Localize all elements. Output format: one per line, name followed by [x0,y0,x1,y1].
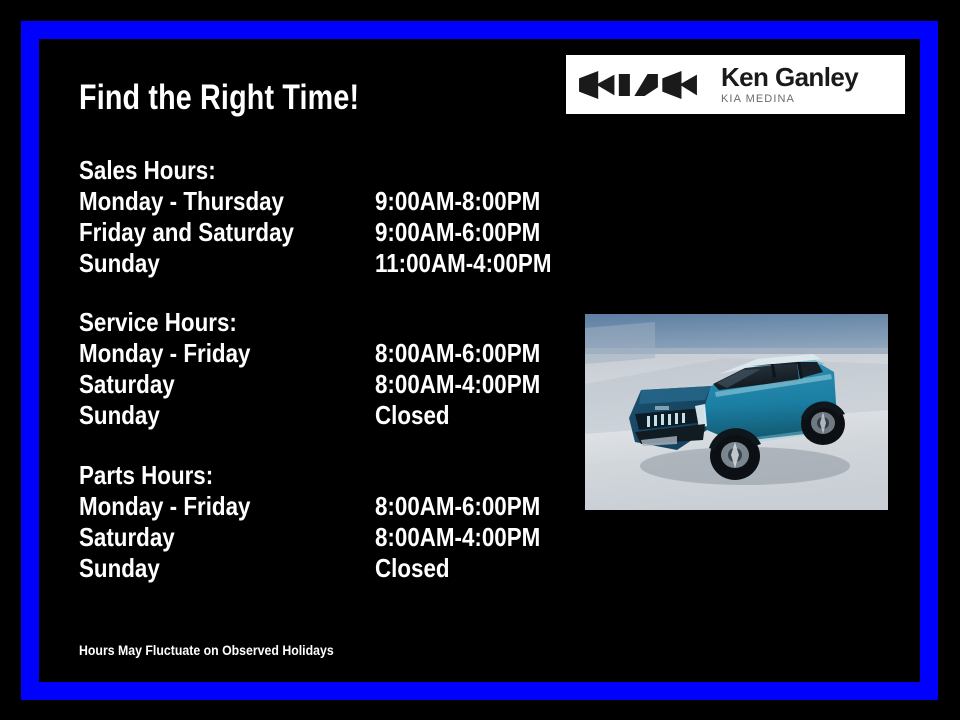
day-label: Saturday [79,369,334,400]
hours-row: Sunday Closed [79,553,567,584]
day-label: Monday - Friday [79,491,334,522]
hours-row: Sunday Closed [79,400,567,431]
dealer-name: Ken Ganley [721,64,858,90]
dealer-logo-panel: Ken Ganley KIA MEDINA [566,55,905,114]
hours-row: Monday - Thursday 9:00AM-8:00PM [79,186,580,217]
time-value: 8:00AM-6:00PM [375,491,540,522]
dealer-logo-text: Ken Ganley KIA MEDINA [721,64,858,105]
hours-row: Friday and Saturday 9:00AM-6:00PM [79,217,580,248]
kia-logo-icon [579,71,697,99]
hours-row: Saturday 8:00AM-4:00PM [79,369,567,400]
day-label: Sunday [79,400,334,431]
day-label: Saturday [79,522,334,553]
dealer-subtitle: KIA MEDINA [721,94,858,105]
holiday-disclaimer: Hours May Fluctuate on Observed Holidays [79,642,334,658]
hours-row: Monday - Friday 8:00AM-6:00PM [79,338,567,369]
time-value: 11:00AM-4:00PM [375,248,551,279]
time-value: 8:00AM-6:00PM [375,338,540,369]
day-label: Friday and Saturday [79,217,334,248]
time-value: Closed [375,553,450,584]
hours-row: Monday - Friday 8:00AM-6:00PM [79,491,567,522]
kia-ev9-vehicle-photo [585,314,888,510]
parts-hours-heading: Parts Hours: [79,460,499,491]
service-hours-block: Service Hours: Monday - Friday 8:00AM-6:… [79,307,567,431]
time-value: 9:00AM-8:00PM [375,186,540,217]
hours-row: Sunday 11:00AM-4:00PM [79,248,580,279]
sales-hours-heading: Sales Hours: [79,155,510,186]
time-value: 8:00AM-4:00PM [375,522,540,553]
hours-row: Saturday 8:00AM-4:00PM [79,522,567,553]
page-title: Find the Right Time! [79,78,359,118]
service-hours-heading: Service Hours: [79,307,499,338]
day-label: Sunday [79,553,334,584]
time-value: 8:00AM-4:00PM [375,369,540,400]
sales-hours-block: Sales Hours: Monday - Thursday 9:00AM-8:… [79,155,580,279]
slide-canvas: Find the Right Time! Ken Ganley KIA MEDI… [0,0,960,720]
time-value: 9:00AM-6:00PM [375,217,540,248]
time-value: Closed [375,400,450,431]
day-label: Monday - Friday [79,338,334,369]
day-label: Monday - Thursday [79,186,334,217]
parts-hours-block: Parts Hours: Monday - Friday 8:00AM-6:00… [79,460,567,584]
day-label: Sunday [79,248,334,279]
